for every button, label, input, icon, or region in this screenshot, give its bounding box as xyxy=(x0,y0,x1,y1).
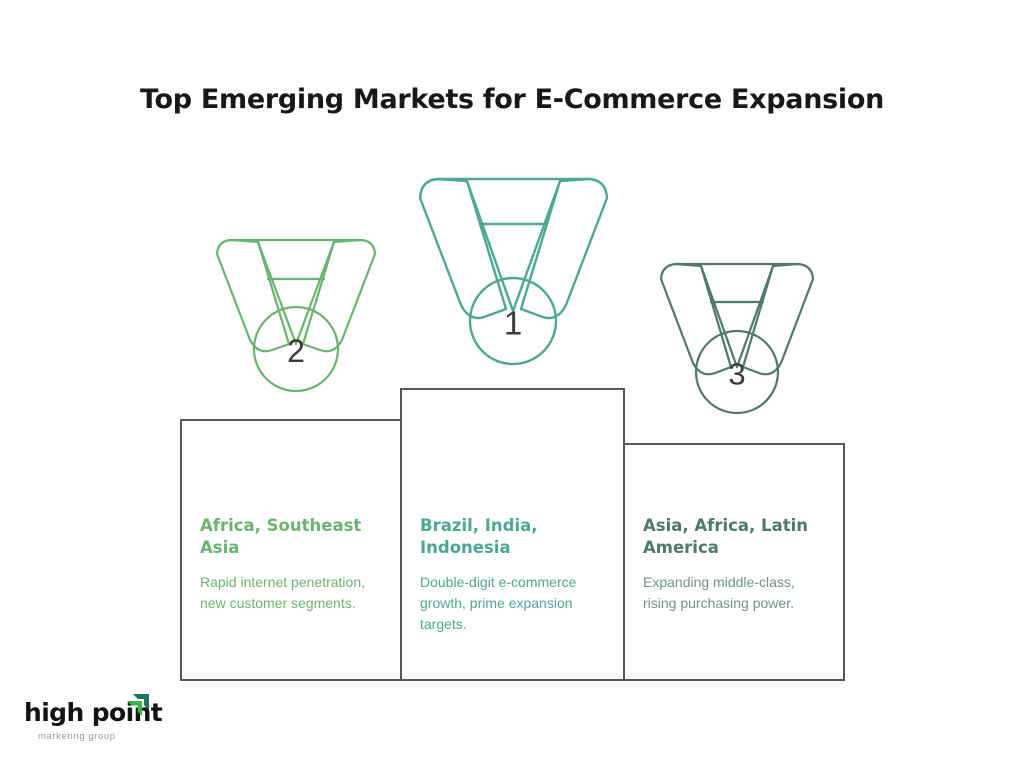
medal-rank-2: 2 xyxy=(206,222,386,397)
slide-canvas: Top Emerging Markets for E-Commerce Expa… xyxy=(0,0,1024,768)
medal-rank-3: 3 xyxy=(651,248,823,418)
podium-text-rank-1: Brazil, India, Indonesia Double-digit e-… xyxy=(420,515,607,635)
region-description-rank-3: Expanding middle-class, rising purchasin… xyxy=(643,572,827,614)
medal-number-2: 2 xyxy=(287,333,305,369)
region-label-rank-2: Africa, Southeast Asia xyxy=(200,515,384,559)
medal-number-3: 3 xyxy=(728,357,745,392)
podium-text-rank-3: Asia, Africa, Latin America Expanding mi… xyxy=(643,515,827,614)
podium-text-rank-2: Africa, Southeast Asia Rapid internet pe… xyxy=(200,515,384,614)
region-description-rank-1: Double-digit e-commerce growth, prime ex… xyxy=(420,572,607,635)
double-chevron-arrow-icon xyxy=(123,692,153,718)
region-label-rank-1: Brazil, India, Indonesia xyxy=(420,515,607,559)
medal-rank-1: 1 xyxy=(409,165,618,370)
podium-block-rank-3: Asia, Africa, Latin America Expanding mi… xyxy=(623,443,845,681)
logo-tagline: marketing group xyxy=(38,731,116,742)
brand-logo: high point marketing group xyxy=(24,698,184,756)
region-label-rank-3: Asia, Africa, Latin America xyxy=(643,515,827,559)
medal-number-1: 1 xyxy=(504,305,522,342)
podium-block-rank-2: Africa, Southeast Asia Rapid internet pe… xyxy=(180,419,402,681)
podium-block-rank-1: Brazil, India, Indonesia Double-digit e-… xyxy=(400,388,625,681)
region-description-rank-2: Rapid internet penetration, new customer… xyxy=(200,572,384,614)
